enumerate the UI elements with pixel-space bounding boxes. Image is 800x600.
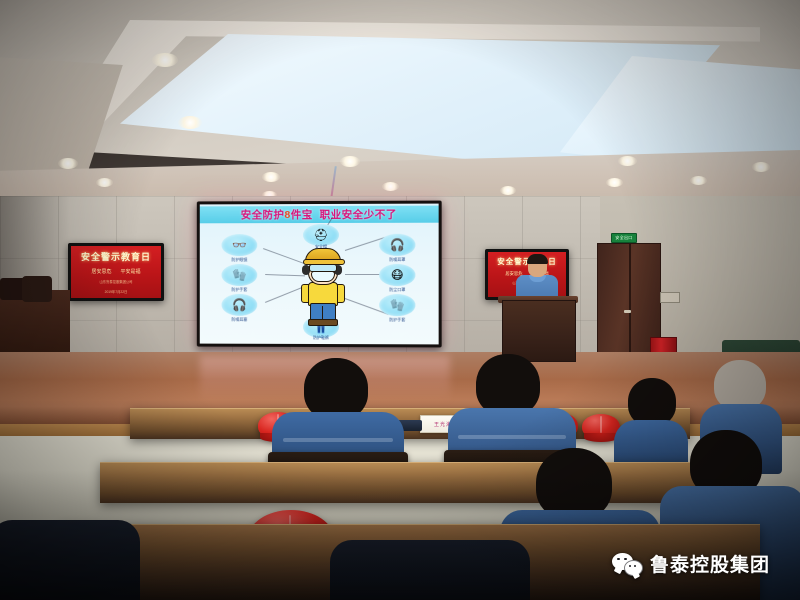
door-handle[interactable]	[624, 310, 631, 313]
wechat-bubble-small	[624, 560, 643, 576]
screen-title-mid: 件宝	[291, 207, 313, 222]
ear-plugs-icon: 🎧	[232, 299, 247, 311]
downlight-icon	[618, 156, 637, 166]
screen-face: 安全防护8件宝 职业安全少不了 👓 防护眼镜 🧤 防护手套 🎧	[200, 204, 439, 345]
foreground-person	[330, 540, 530, 600]
ppe-label: 防护眼镜	[217, 257, 263, 263]
screen-title-prefix: 安全防护	[241, 207, 285, 222]
ppe-label: 防护手套	[217, 287, 263, 293]
goggles-icon: 👓	[232, 239, 247, 251]
exit-sign: 安全出口	[611, 233, 637, 243]
screen-title: 安全防护8件宝 职业安全少不了	[200, 206, 439, 224]
gloves-icon: 🧤	[232, 269, 247, 281]
ppe-label: 防噪耳塞	[217, 317, 263, 323]
ppe-ear-muffs: 🎧	[379, 234, 415, 256]
attendee-head	[628, 378, 676, 426]
ppe-safety-gloves: 🧤	[222, 264, 258, 286]
wechat-dot	[624, 558, 627, 561]
worker-helmet	[305, 248, 341, 264]
downlight-icon	[606, 178, 623, 187]
downlight-icon	[152, 53, 178, 67]
work-gloves-icon: 🧤	[390, 299, 405, 311]
worker-mask	[311, 271, 335, 282]
tv-left-headline: 安全警示教育日	[81, 250, 151, 263]
downlight-icon	[500, 186, 516, 195]
tv-left-footer-2: 2019年7月22日	[105, 290, 128, 295]
ppe-ear-plugs: 🎧	[222, 294, 258, 316]
foreground-silhouette	[0, 520, 140, 600]
downlight-icon	[58, 158, 78, 169]
foreground-person	[0, 520, 140, 600]
wall-tv-left[interactable]: 安全警示教育日 居安思危 平安是福 山东鲁泰控股集团公司 2019年7月22日	[68, 243, 164, 301]
cartoon-worker-illustration	[299, 246, 345, 322]
wechat-watermark: 鲁泰控股集团	[612, 550, 770, 577]
ppe-label: 防尘口罩	[374, 287, 420, 293]
tv-left-subline: 居安思危 平安是福	[91, 268, 140, 275]
left-chair	[22, 276, 52, 302]
watermark-brand-text: 鲁泰控股集团	[650, 550, 770, 577]
wechat-icon	[612, 553, 642, 575]
wall-control-box	[660, 292, 680, 303]
attendee-head	[304, 358, 368, 420]
downlight-icon	[752, 162, 770, 172]
downlight-icon	[262, 172, 280, 182]
ppe-dust-mask: 😷	[379, 264, 415, 286]
helmet-ridge	[600, 416, 602, 433]
speaker-hair	[527, 254, 548, 264]
ppe-work-gloves: 🧤	[379, 294, 415, 316]
downlight-icon	[340, 156, 360, 167]
ppe-safety-helmet: ⛑	[303, 224, 339, 246]
uniform-reflective-stripe	[458, 435, 566, 439]
wechat-dot	[629, 565, 631, 567]
uniform-reflective-stripe	[283, 438, 394, 442]
attendee-head-grey-hair	[714, 360, 766, 410]
exit-sign-label: 安全出口	[615, 235, 632, 241]
downlight-icon	[690, 176, 707, 185]
dust-mask-icon: 😷	[391, 269, 404, 281]
ppe-label: 防护手套	[374, 317, 420, 323]
downlight-icon	[382, 182, 399, 191]
worker-boots	[308, 319, 338, 326]
tv-left-sub-right: 平安是福	[121, 268, 141, 275]
tv-left-face: 安全警示教育日 居安思危 平安是福 山东鲁泰控股集团公司 2019年7月22日	[71, 246, 161, 298]
wechat-dot	[634, 565, 636, 567]
downlight-icon	[178, 116, 202, 129]
podium	[502, 300, 576, 362]
attendee-head	[476, 354, 540, 416]
wechat-dot	[617, 558, 620, 561]
conference-hall-photo: 安全防护8件宝 职业安全少不了 👓 防护眼镜 🧤 防护手套 🎧	[0, 0, 800, 600]
tv-left-sub-left: 居安思危	[91, 268, 111, 275]
ppe-safety-goggles: 👓	[222, 234, 258, 256]
door-leaf-split	[629, 244, 631, 362]
main-led-screen[interactable]: 安全防护8件宝 职业安全少不了 👓 防护眼镜 🧤 防护手套 🎧	[197, 201, 442, 348]
downlight-icon	[96, 178, 113, 187]
foreground-silhouette	[330, 540, 530, 600]
ear-muffs-icon: 🎧	[390, 239, 405, 251]
tv-left-footer-1: 山东鲁泰控股集团公司	[100, 280, 133, 285]
ppe-label: 防护鞋裤	[298, 335, 344, 341]
ppe-label: 防噪耳罩	[374, 257, 420, 263]
helmet-icon: ⛑	[313, 229, 328, 241]
